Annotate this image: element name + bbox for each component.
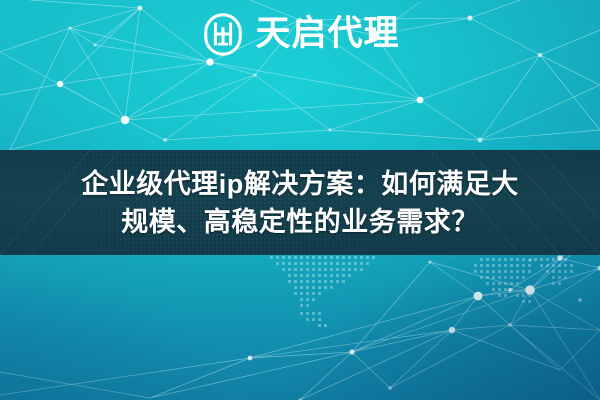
tianqi-circle-monogram-icon [200,11,246,57]
headline-line-2: 规模、高稳定性的业务需求？ [121,203,479,241]
brand-logo: 天启代理 [0,6,600,62]
headline-band: 企业级代理ip解决方案：如何满足大 规模、高稳定性的业务需求？ [0,150,600,255]
headline-line-1: 企业级代理ip解决方案：如何满足大 [81,165,519,203]
banner-canvas: 天启代理 企业级代理ip解决方案：如何满足大 [0,0,600,400]
brand-name: 天启代理 [255,11,399,57]
